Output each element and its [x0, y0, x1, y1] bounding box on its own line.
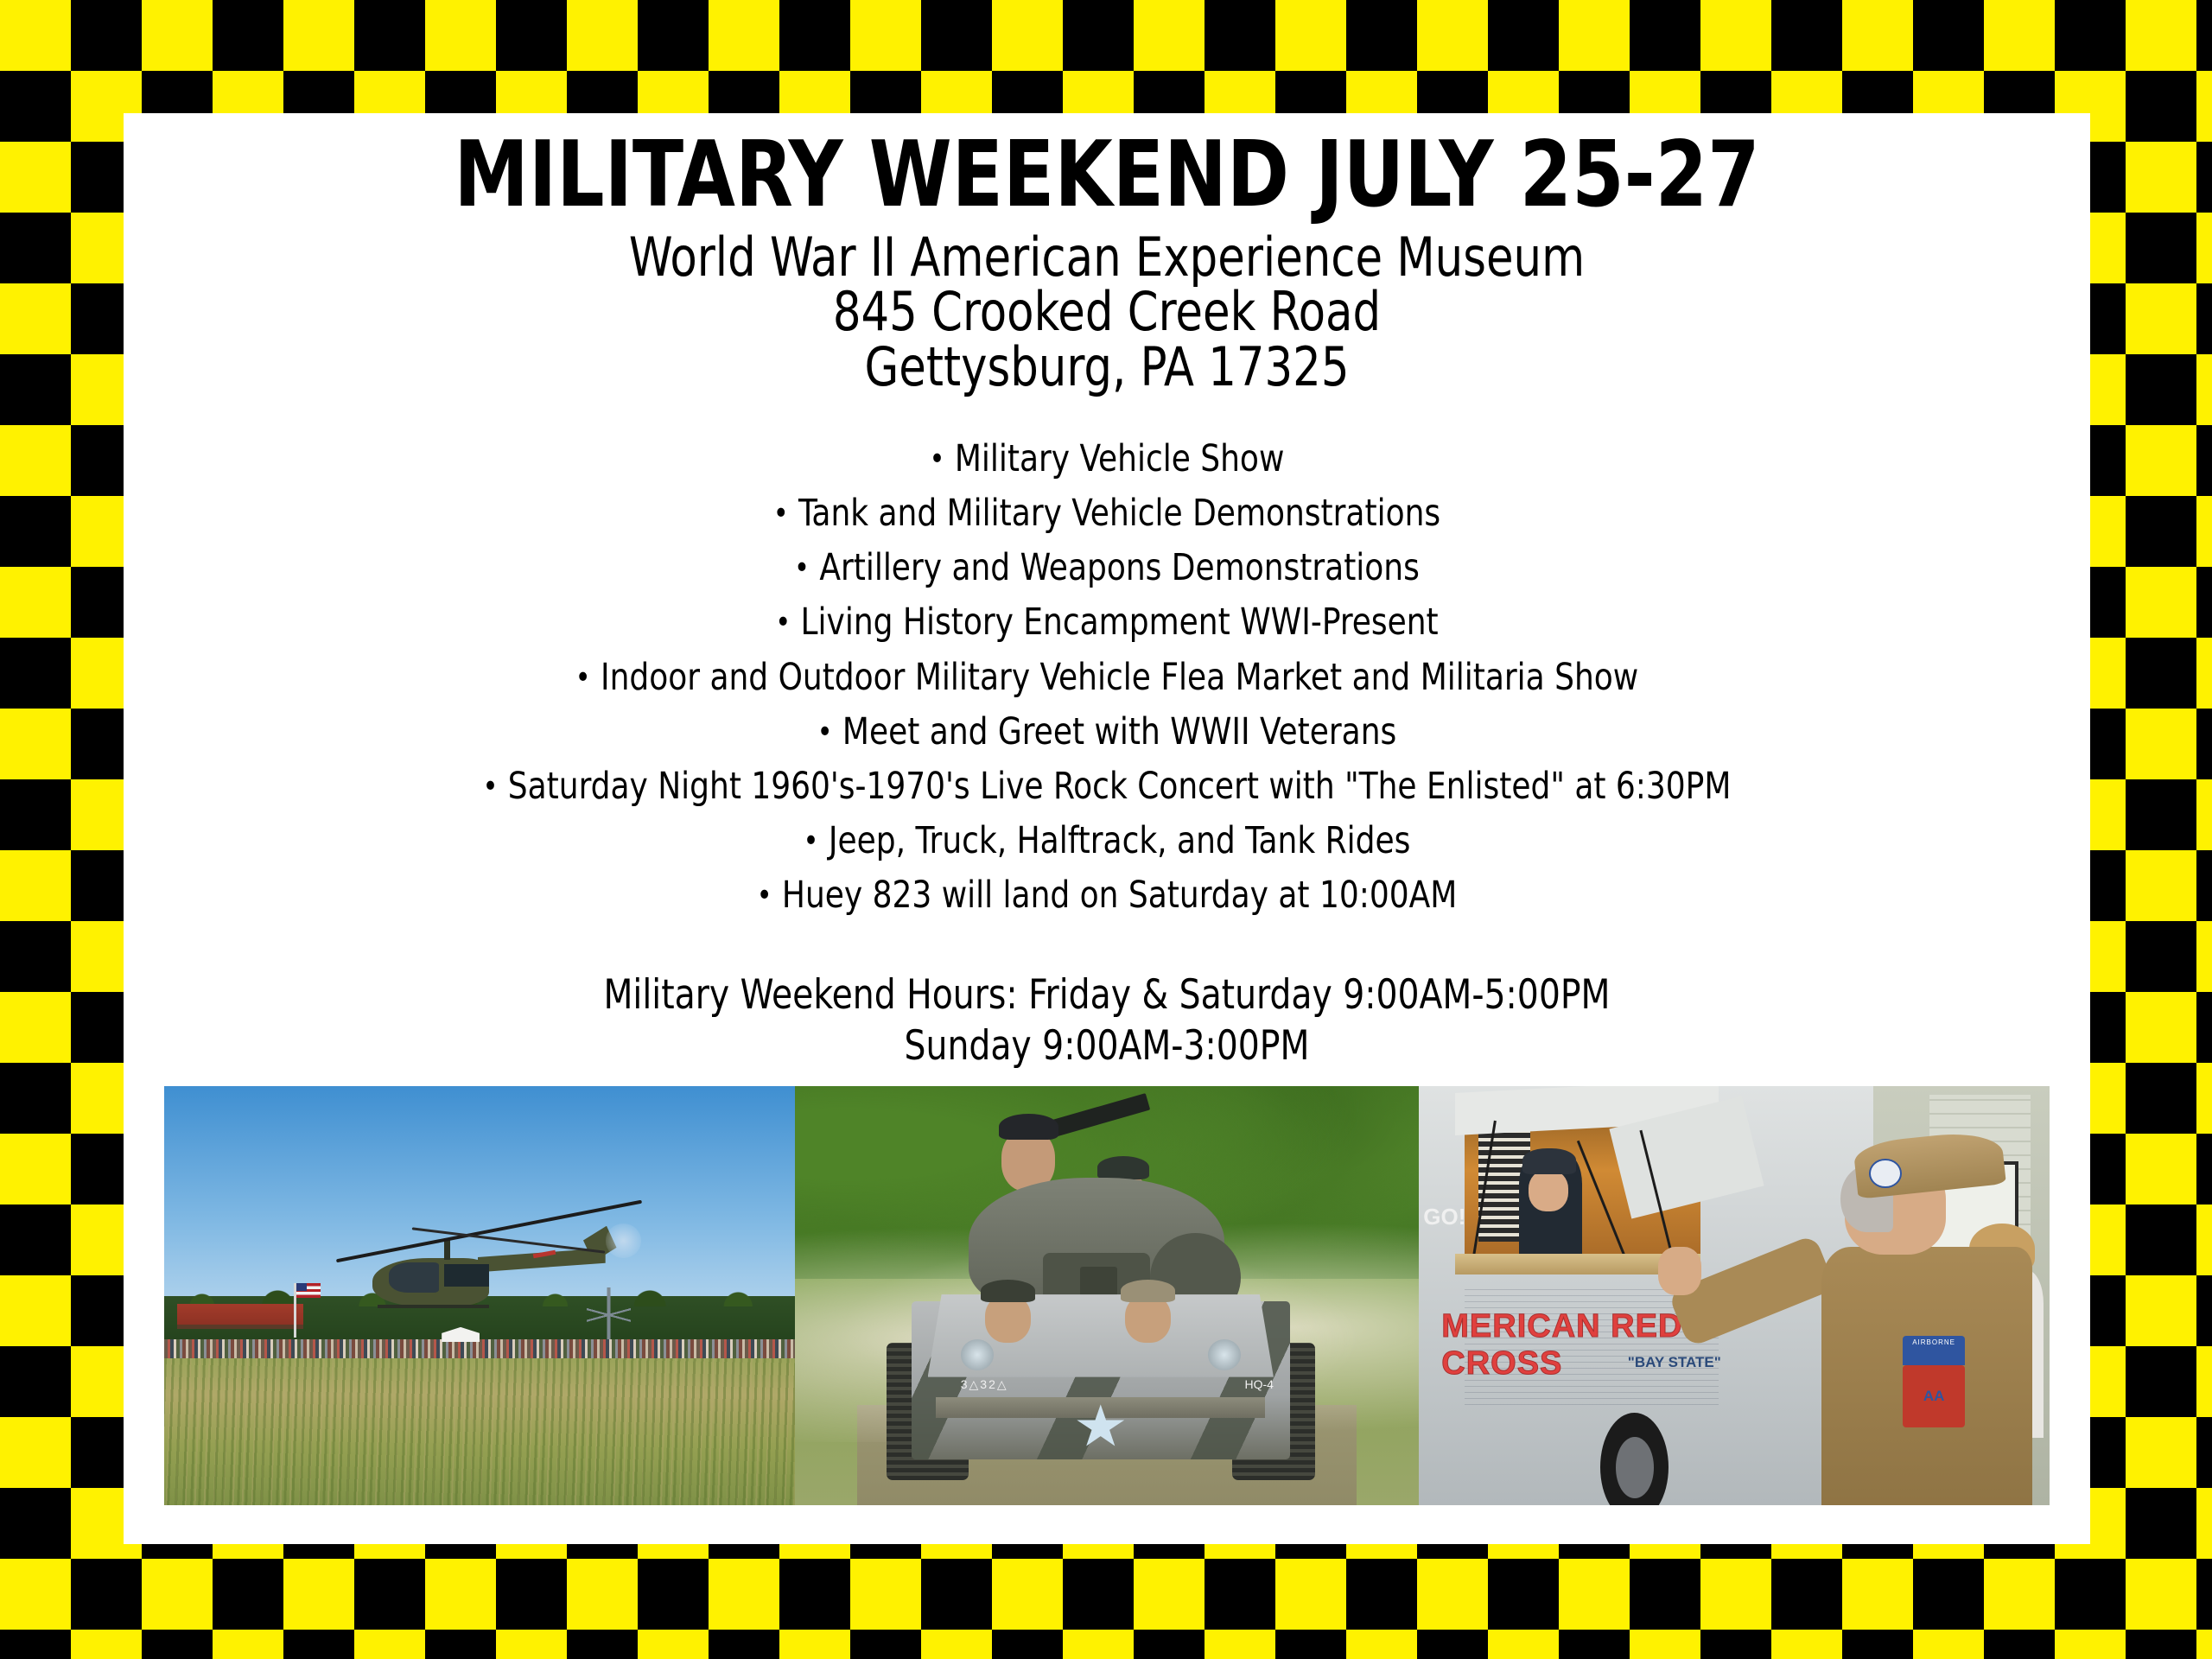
bullet-icon: •	[483, 769, 499, 804]
bullet-icon: •	[930, 442, 945, 477]
bullet-icon: •	[817, 715, 833, 750]
bullet-icon: •	[775, 605, 791, 640]
landing-skid	[378, 1305, 488, 1308]
hours-line-1: Military Weekend Hours: Friday & Saturda…	[193, 924, 2022, 1021]
list-item: • Huey 823 will land on Saturday at 10:0…	[193, 868, 2022, 923]
list-item-label: Military Vehicle Show	[955, 437, 1285, 480]
list-item: • Saturday Night 1960's-1970's Live Rock…	[193, 760, 2022, 814]
aa-patch-label: AA	[1923, 1388, 1945, 1405]
list-item: • Indoor and Outdoor Military Vehicle Fl…	[193, 651, 2022, 705]
list-item-label: Tank and Military Vehicle Demonstrations	[798, 492, 1440, 535]
list-item-label: Artillery and Weapons Demonstrations	[819, 546, 1420, 589]
list-item-label: Saturday Night 1960's-1970's Live Rock C…	[508, 765, 1732, 808]
cabin-door-window	[444, 1264, 488, 1287]
venue-name: World War II American Experience Museum	[202, 221, 2012, 284]
poster-checkered-border: MILITARY WEEKEND JULY 25-27 World War II…	[0, 0, 2212, 1659]
sherman-tank-demonstration-photo: 3△32△ HQ-4	[795, 1086, 1419, 1505]
tail-rotor	[606, 1224, 642, 1258]
bullet-icon: •	[794, 550, 810, 586]
bullet-icon: •	[804, 823, 819, 859]
red-barn	[177, 1304, 303, 1329]
grass-field	[164, 1358, 795, 1505]
list-item: • Tank and Military Vehicle Demonstratio…	[193, 486, 2022, 541]
headlight-left	[961, 1339, 994, 1370]
hand	[1658, 1247, 1701, 1294]
list-item: • Living History Encampment WWI-Present	[193, 595, 2022, 650]
photo-strip: 3△32△ HQ-4	[164, 1086, 2050, 1505]
truck-wheel	[1600, 1413, 1669, 1505]
list-item-label: Meet and Greet with WWII Veterans	[842, 710, 1396, 753]
door-text: GO!	[1423, 1204, 1465, 1230]
city-state-zip: Gettysburg, PA 17325	[202, 340, 2012, 394]
event-feature-list: • Military Vehicle Show • Tank and Milit…	[124, 394, 2090, 924]
service-cap	[1522, 1148, 1576, 1174]
spectator-crowd	[164, 1339, 795, 1358]
poster-white-panel: MILITARY WEEKEND JULY 25-27 World War II…	[124, 113, 2090, 1544]
wwii-veteran-reenactor: AIRBORNE AA	[1797, 1136, 2037, 1505]
page-title: MILITARY WEEKEND JULY 25-27	[202, 113, 2012, 221]
truck-name-lettering: "BAY STATE"	[1628, 1354, 1721, 1371]
us-flag-icon	[296, 1283, 321, 1298]
bullet-icon: •	[773, 496, 789, 531]
cap-badge-icon	[1869, 1159, 1901, 1188]
headlight-right	[1208, 1339, 1241, 1370]
list-item: • Military Vehicle Show	[193, 432, 2022, 486]
bullet-icon: •	[575, 660, 591, 696]
82nd-airborne-patch-icon: AIRBORNE AA	[1903, 1365, 1965, 1428]
list-item-label: Huey 823 will land on Saturday at 10:00A…	[782, 874, 1457, 917]
list-item: • Meet and Greet with WWII Veterans	[193, 705, 2022, 760]
list-item-label: Living History Encampment WWI-Present	[801, 601, 1439, 644]
list-item-label: Jeep, Truck, Halftrack, and Tank Rides	[829, 819, 1410, 862]
sherman-tank-icon: 3△32△ HQ-4	[895, 1136, 1307, 1480]
face	[1529, 1170, 1568, 1212]
bullet-icon: •	[757, 878, 772, 913]
list-item: • Jeep, Truck, Halftrack, and Tank Rides	[193, 814, 2022, 868]
cockpit	[389, 1262, 439, 1293]
list-item: • Artillery and Weapons Demonstrations	[193, 541, 2022, 595]
hull-crew-right	[1125, 1294, 1170, 1343]
airborne-tab-label: AIRBORNE	[1903, 1336, 1965, 1364]
red-cross-clubmobile-photo: GO! MERICAN RED CROSS "BAY STATE" AIRBOR…	[1419, 1086, 2050, 1505]
huey-helicopter-landing-photo	[164, 1086, 795, 1505]
flag-pole	[294, 1283, 296, 1338]
hull-crew-left	[985, 1294, 1030, 1343]
hours-line-2: Sunday 9:00AM-3:00PM	[193, 1020, 2022, 1072]
poster-text-content: MILITARY WEEKEND JULY 25-27 World War II…	[124, 113, 2090, 1072]
street-address: 845 Crooked Creek Road	[202, 284, 2012, 339]
list-item-label: Indoor and Outdoor Military Vehicle Flea…	[601, 656, 1638, 699]
huey-helicopter-icon	[372, 1212, 650, 1313]
